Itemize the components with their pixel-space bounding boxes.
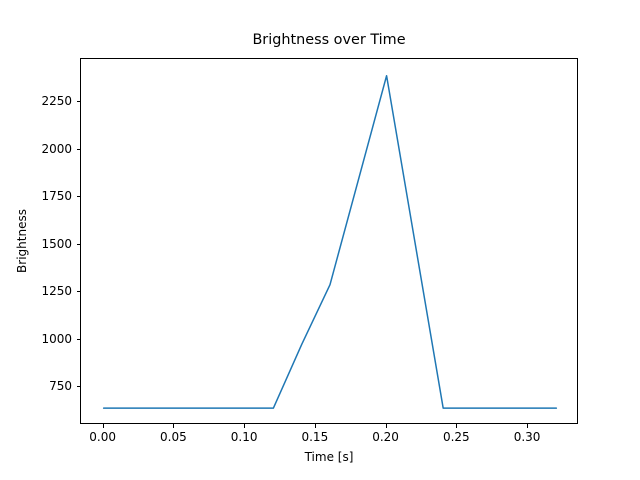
x-axis-label: Time [s] — [80, 450, 578, 464]
y-axis-label: Brightness — [14, 58, 30, 424]
x-tick-label: 0.10 — [204, 430, 284, 444]
y-tick-mark — [77, 196, 81, 197]
y-tick-mark — [77, 149, 81, 150]
y-tick-label: 750 — [0, 379, 72, 393]
plot-area — [80, 58, 578, 424]
y-tick-label: 1000 — [0, 332, 72, 346]
y-tick-label: 2000 — [0, 142, 72, 156]
x-tick-label: 0.00 — [63, 430, 143, 444]
x-tick-label: 0.05 — [133, 430, 213, 444]
y-tick-mark — [77, 386, 81, 387]
x-tick-mark — [173, 424, 174, 428]
x-tick-mark — [103, 424, 104, 428]
y-tick-mark — [77, 339, 81, 340]
y-tick-mark — [77, 291, 81, 292]
y-tick-label: 1250 — [0, 284, 72, 298]
x-tick-mark — [315, 424, 316, 428]
line-plot-svg — [81, 59, 579, 425]
x-tick-mark — [527, 424, 528, 428]
chart-title: Brightness over Time — [80, 32, 578, 49]
x-tick-mark — [244, 424, 245, 428]
y-tick-label: 2250 — [0, 94, 72, 108]
chart-figure: Brightness over Time 0.000.050.100.150.2… — [0, 0, 640, 480]
x-tick-label: 0.15 — [275, 430, 355, 444]
y-tick-label: 1500 — [0, 237, 72, 251]
y-tick-mark — [77, 244, 81, 245]
y-tick-mark — [77, 101, 81, 102]
x-tick-label: 0.20 — [346, 430, 426, 444]
x-tick-label: 0.30 — [487, 430, 567, 444]
x-tick-label: 0.25 — [416, 430, 496, 444]
x-tick-mark — [456, 424, 457, 428]
x-tick-mark — [386, 424, 387, 428]
y-tick-label: 1750 — [0, 189, 72, 203]
brightness-line-series — [104, 76, 557, 408]
